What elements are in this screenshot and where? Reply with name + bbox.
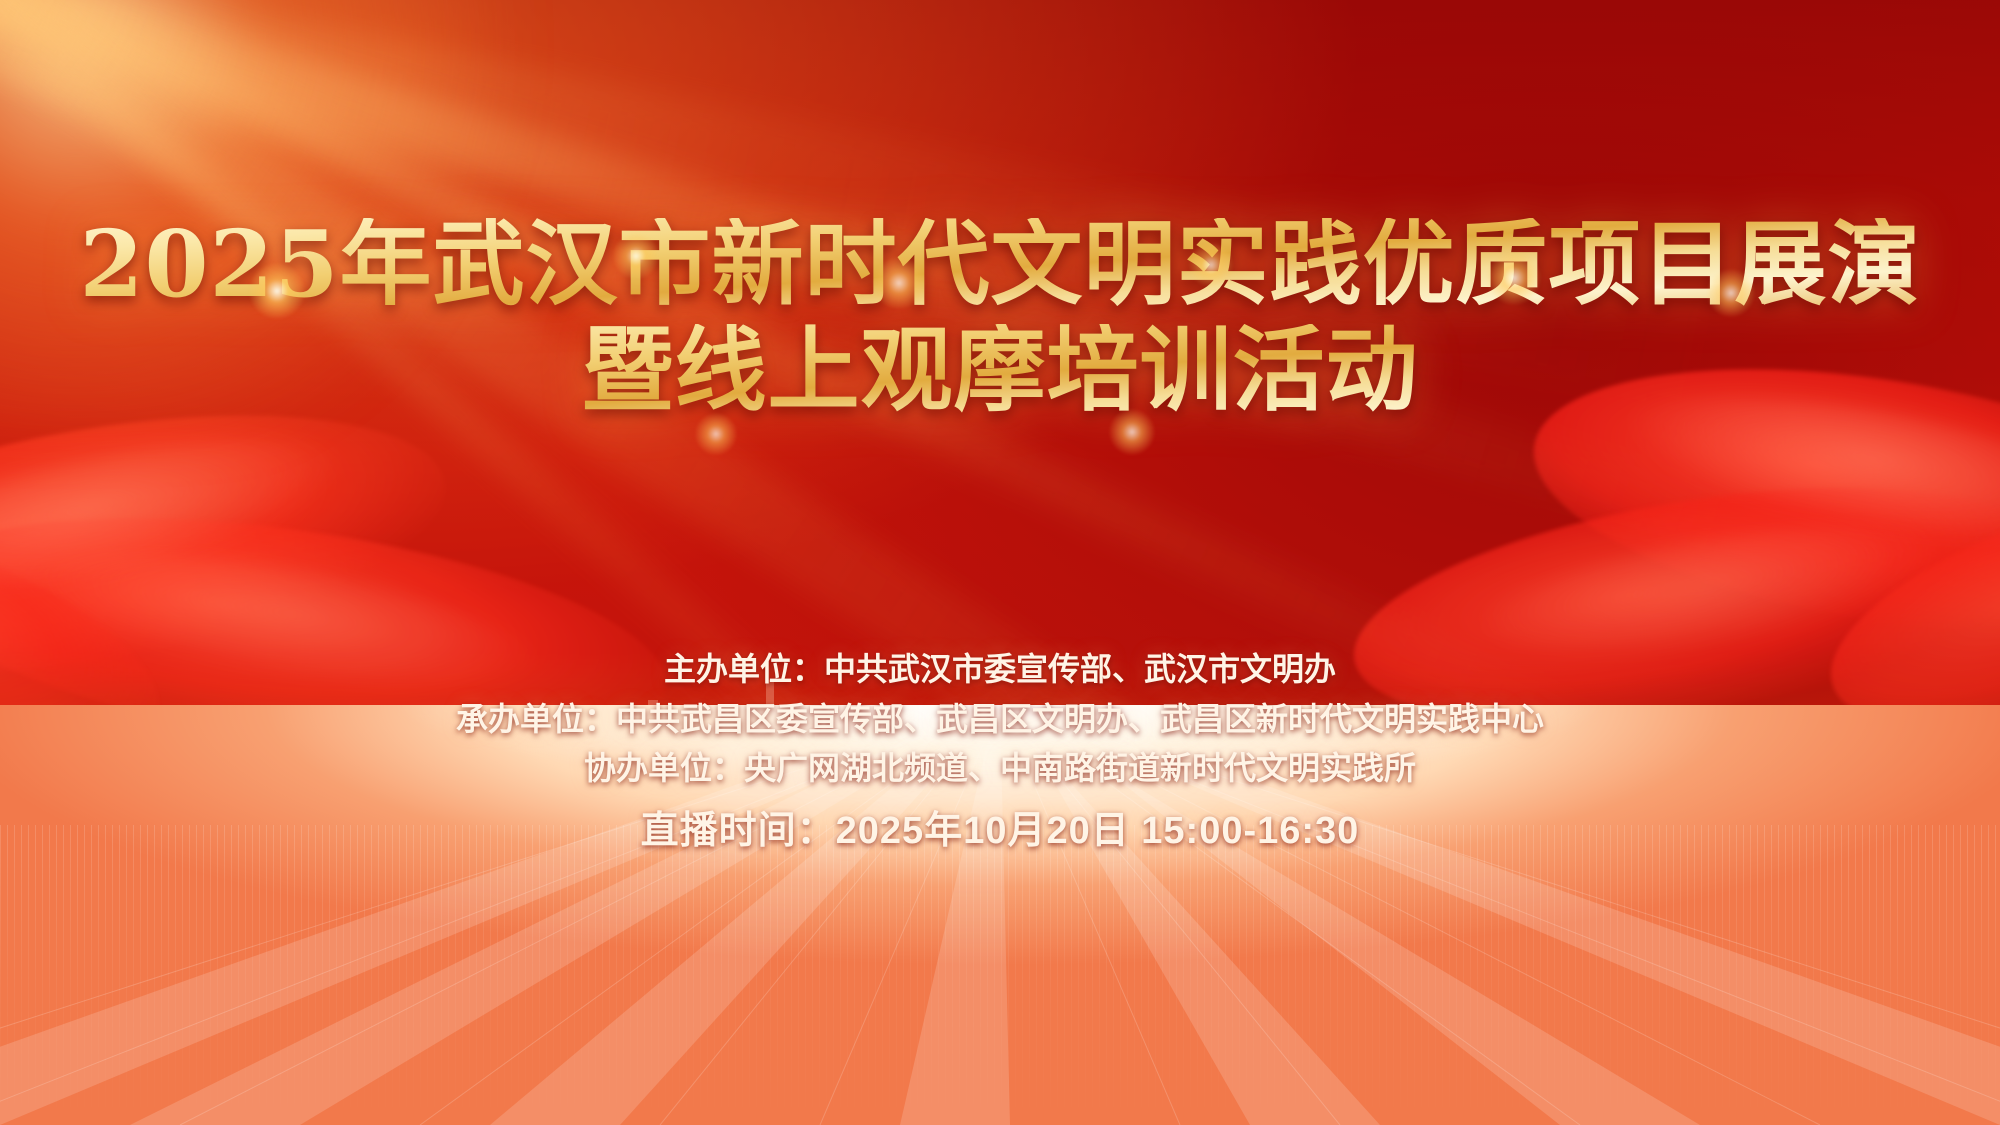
- credit-organizer: 主办单位：中共武汉市委宣传部、武汉市文明办: [0, 645, 2000, 695]
- credit-coorganizer: 协办单位：央广网湖北频道、中南路街道新时代文明实践所: [0, 744, 2000, 794]
- poster-title: 2025年武汉市新时代文明实践优质项目展演 暨线上观摩培训活动: [0, 218, 2000, 416]
- poster-canvas: 2025年武汉市新时代文明实践优质项目展演 暨线上观摩培训活动 主办单位：中共武…: [0, 0, 2000, 1125]
- credit-host: 承办单位：中共武昌区委宣传部、武昌区文明办、武昌区新时代文明实践中心: [0, 695, 2000, 745]
- title-line-2: 暨线上观摩培训活动: [0, 324, 2000, 416]
- floor-mesh: [0, 825, 2000, 1125]
- title-line-1: 2025年武汉市新时代文明实践优质项目展演: [0, 218, 2000, 310]
- credits-block: 主办单位：中共武汉市委宣传部、武汉市文明办 承办单位：中共武昌区委宣传部、武昌区…: [0, 645, 2000, 861]
- broadcast-time: 直播时间：2025年10月20日 15:00-16:30: [0, 802, 2000, 861]
